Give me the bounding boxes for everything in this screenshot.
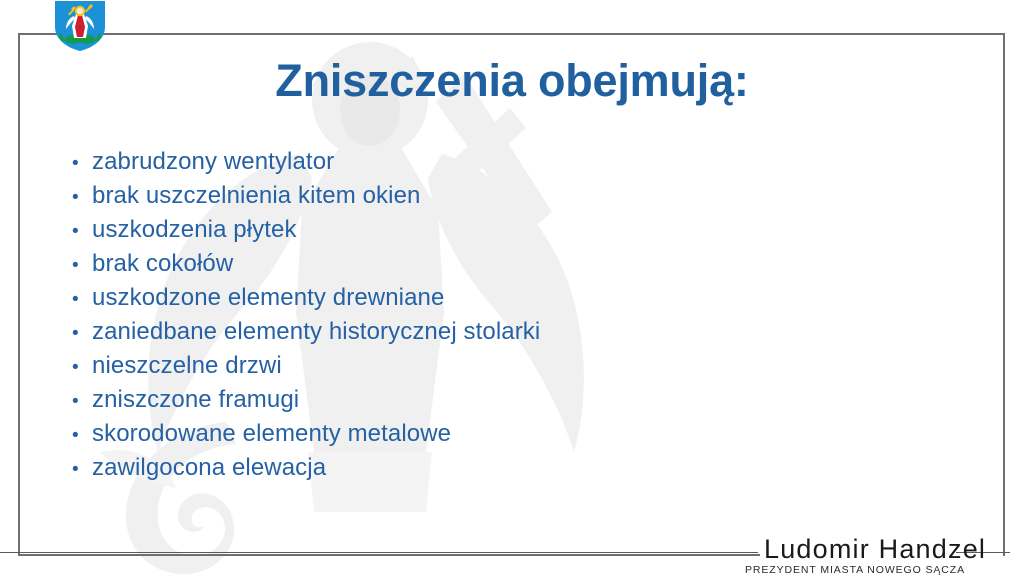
list-item-label: nieszczelne drzwi bbox=[92, 354, 282, 378]
bullet-marker-icon: • bbox=[72, 358, 92, 377]
nowy-sacz-coat-of-arms-icon bbox=[52, 0, 108, 52]
bullet-marker-icon: • bbox=[72, 188, 92, 207]
list-item: • zabrudzony wentylator bbox=[72, 150, 540, 184]
list-item: • uszkodzone elementy drewniane bbox=[72, 286, 540, 320]
frame-top-right-segment bbox=[122, 33, 1005, 35]
bullet-marker-icon: • bbox=[72, 256, 92, 275]
bullet-marker-icon: • bbox=[72, 460, 92, 479]
bullet-marker-icon: • bbox=[72, 324, 92, 343]
damage-list: • zabrudzony wentylator • brak uszczelni… bbox=[72, 150, 540, 490]
presentation-slide: Zniszczenia obejmują: • zabrudzony wenty… bbox=[0, 0, 1024, 576]
list-item-label: brak uszczelnienia kitem okien bbox=[92, 184, 421, 208]
list-item-label: skorodowane elementy metalowe bbox=[92, 422, 451, 446]
bullet-marker-icon: • bbox=[72, 222, 92, 241]
list-item-label: brak cokołów bbox=[92, 252, 233, 276]
bullet-marker-icon: • bbox=[72, 290, 92, 309]
list-item-label: uszkodzenia płytek bbox=[92, 218, 297, 242]
frame-left-edge bbox=[18, 33, 20, 556]
list-item-label: zaniedbane elementy historycznej stolark… bbox=[92, 320, 540, 344]
list-item-label: uszkodzone elementy drewniane bbox=[92, 286, 444, 310]
list-item: • zaniedbane elementy historycznej stola… bbox=[72, 320, 540, 354]
bullet-marker-icon: • bbox=[72, 426, 92, 445]
list-item: • zniszczone framugi bbox=[72, 388, 540, 422]
list-item-label: zniszczone framugi bbox=[92, 388, 299, 412]
bullet-marker-icon: • bbox=[72, 392, 92, 411]
page-title: Zniszczenia obejmują: bbox=[0, 57, 1024, 104]
signature-name: Ludomir Handzel bbox=[760, 534, 956, 565]
list-item: • zawilgocona elewacja bbox=[72, 456, 540, 490]
list-item: • brak uszczelnienia kitem okien bbox=[72, 184, 540, 218]
list-item-label: zawilgocona elewacja bbox=[92, 456, 326, 480]
list-item: • skorodowane elementy metalowe bbox=[72, 422, 540, 456]
frame-right-edge bbox=[1003, 33, 1005, 556]
footer-signature: Ludomir Handzel PREZYDENT MIASTA NOWEGO … bbox=[0, 528, 1024, 576]
footer-rule-left bbox=[0, 552, 758, 553]
list-item: • nieszczelne drzwi bbox=[72, 354, 540, 388]
list-item: • brak cokołów bbox=[72, 252, 540, 286]
signature-subtitle: PREZYDENT MIASTA NOWEGO SĄCZA bbox=[745, 564, 965, 576]
list-item-label: zabrudzony wentylator bbox=[92, 150, 334, 174]
bullet-marker-icon: • bbox=[72, 154, 92, 173]
list-item: • uszkodzenia płytek bbox=[72, 218, 540, 252]
